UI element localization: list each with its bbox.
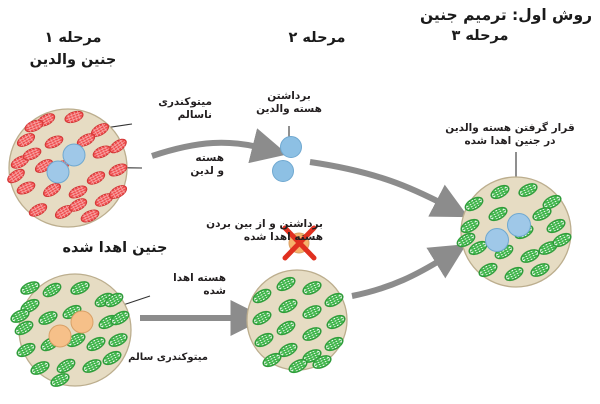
cell-reconstructed-embryo [455, 177, 572, 287]
label-donated-nucleus: هسته اهدا شده [140, 272, 226, 298]
label-donated-embryo: جنین اهدا شده [50, 240, 180, 258]
diagram-canvas: روش اول: ترمیم جنین مرحله ۱ جنین والدین … [0, 0, 600, 404]
page-title: روش اول: ترمیم جنین [342, 6, 592, 25]
label-place-parent-nucleus: قرار گرفتن هسته والدین در جنین اهدا شده [425, 122, 595, 148]
stage-3-number: مرحله ۳ [390, 28, 570, 46]
label-remove-parent-nucleus: برداشتن هسته والدین [235, 90, 343, 116]
label-healthy-mitochondria: میتوکندری سالم [104, 352, 208, 364]
cell-extracted-parent-nuclei [273, 137, 302, 182]
cell-donor-embryo [9, 274, 131, 389]
stage-1-number: مرحله ۱ [8, 30, 138, 48]
cell-enucleated-donor-embryo [247, 270, 347, 375]
label-unhealthy-mitochondria: میتوکندری ناسالم [132, 96, 212, 122]
stage-2-number: مرحله ۲ [262, 30, 372, 48]
label-remove-destroy-donated-nucleus: برداشتن و از بین بردن هسته اهدا شده [195, 218, 323, 244]
label-parent-nucleus: هسته و لدین [148, 152, 224, 178]
stage-1-sublabel: جنین والدین [8, 52, 138, 70]
cell-parent-embryo [5, 109, 128, 227]
